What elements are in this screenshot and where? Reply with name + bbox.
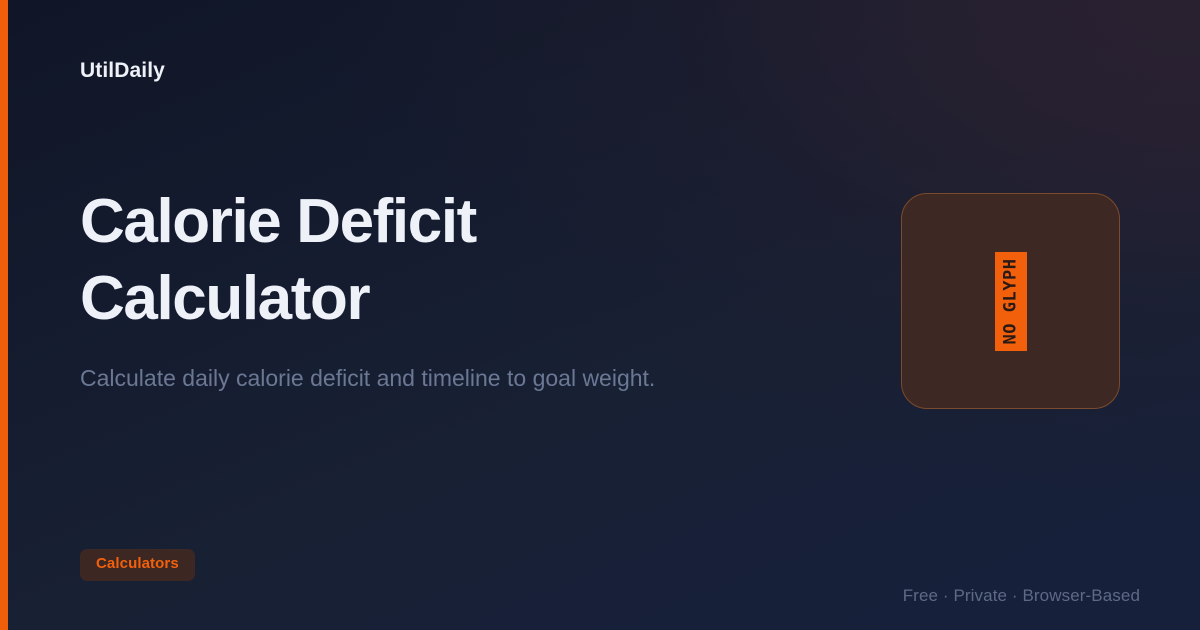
- brand-logo-text: UtilDaily: [80, 57, 165, 84]
- category-badge[interactable]: Calculators: [80, 549, 195, 581]
- hero-content: Calorie Deficit Calculator Calculate dai…: [80, 184, 740, 397]
- icon-tile: NO GLYPH: [901, 193, 1120, 409]
- og-preview-card: UtilDaily Calorie Deficit Calculator Cal…: [0, 0, 1200, 630]
- page-subtitle: Calculate daily calorie deficit and time…: [80, 360, 700, 397]
- no-glyph-placeholder-icon: NO GLYPH: [995, 252, 1027, 351]
- footer-tagline: Free · Private · Browser-Based: [903, 586, 1140, 606]
- left-accent-rail: [0, 0, 8, 630]
- no-glyph-label: NO GLYPH: [1002, 258, 1019, 344]
- page-title: Calorie Deficit Calculator: [80, 184, 740, 338]
